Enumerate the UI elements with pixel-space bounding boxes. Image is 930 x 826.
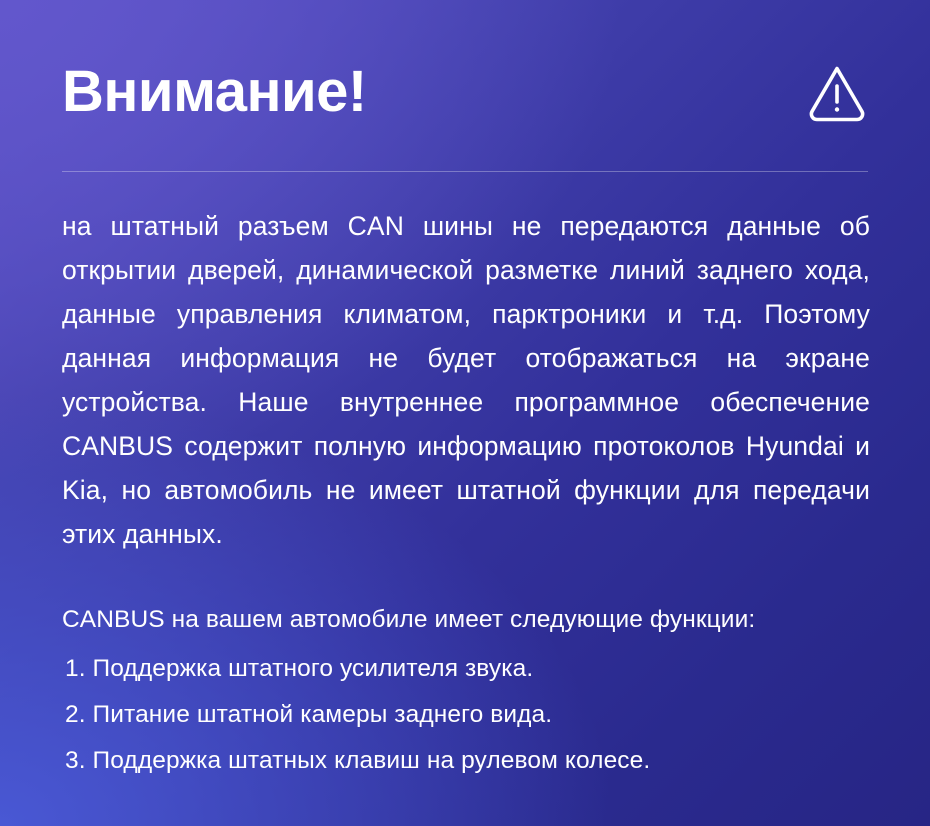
features-list: 1. Поддержка штатного усилителя звука. 2… [62,646,870,784]
features-intro-text: CANBUS на вашем автомобиле имеет следующ… [62,600,870,640]
notice-body: на штатный разъем CAN шины не передаются… [62,204,870,784]
warning-triangle-icon [806,62,868,122]
features-block: CANBUS на вашем автомобиле имеет следующ… [62,600,870,784]
intro-paragraph: на штатный разъем CAN шины не передаются… [62,204,870,556]
warning-notice-card: Внимание! на штатный разъем CAN шины не … [0,0,930,826]
page-title: Внимание! [62,63,367,121]
list-item: 2. Питание штатной камеры заднего вида. [62,692,870,738]
list-item: 1. Поддержка штатного усилителя звука. [62,646,870,692]
header-divider [62,171,868,172]
list-item: 3. Поддержка штатных клавиш на рулевом к… [62,738,870,784]
notice-header: Внимание! [62,52,868,132]
